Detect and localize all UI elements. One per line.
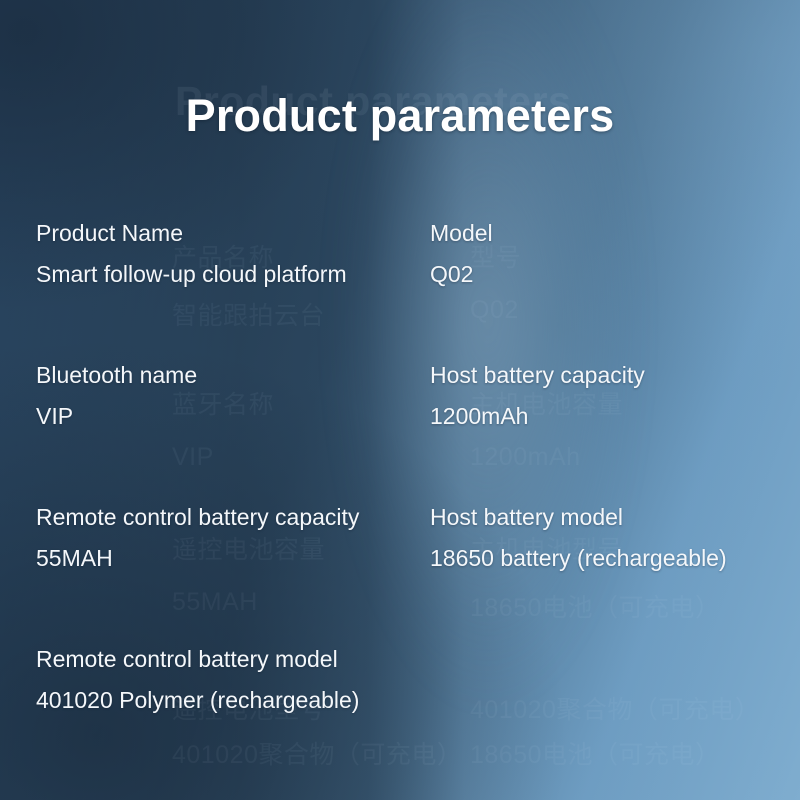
spec-label: Model bbox=[430, 213, 780, 254]
spec-row: Product Name Smart follow-up cloud platf… bbox=[36, 213, 780, 295]
spec-label: Host battery model bbox=[430, 497, 780, 538]
page-title: Product parameters bbox=[0, 90, 800, 142]
spec-cell-bluetooth-name: Bluetooth name VIP bbox=[36, 355, 430, 437]
specifications-grid: Product Name Smart follow-up cloud platf… bbox=[36, 213, 780, 721]
spec-row: Remote control battery capacity 55MAH Ho… bbox=[36, 497, 780, 579]
spec-value: VIP bbox=[36, 396, 430, 437]
spec-value: Q02 bbox=[430, 254, 780, 295]
spec-cell-remote-battery-capacity: Remote control battery capacity 55MAH bbox=[36, 497, 430, 579]
spec-label: Host battery capacity bbox=[430, 355, 780, 396]
spec-cell-host-battery-capacity: Host battery capacity 1200mAh bbox=[430, 355, 780, 437]
spec-cell-product-name: Product Name Smart follow-up cloud platf… bbox=[36, 213, 430, 295]
content-layer: Product parameters Product Name Smart fo… bbox=[0, 0, 800, 800]
spec-value: 55MAH bbox=[36, 538, 430, 579]
spec-row: Remote control battery model 401020 Poly… bbox=[36, 639, 780, 721]
spec-label: Remote control battery model bbox=[36, 639, 430, 680]
spec-value: 401020 Polymer (rechargeable) bbox=[36, 680, 430, 721]
spec-row: Bluetooth name VIP Host battery capacity… bbox=[36, 355, 780, 437]
spec-label: Remote control battery capacity bbox=[36, 497, 430, 538]
spec-value: 1200mAh bbox=[430, 396, 780, 437]
spec-value: Smart follow-up cloud platform bbox=[36, 254, 430, 295]
spec-cell-remote-battery-model: Remote control battery model 401020 Poly… bbox=[36, 639, 430, 721]
spec-cell-host-battery-model: Host battery model 18650 battery (rechar… bbox=[430, 497, 780, 579]
spec-cell-empty bbox=[430, 639, 780, 721]
spec-label: Bluetooth name bbox=[36, 355, 430, 396]
spec-value: 18650 battery (rechargeable) bbox=[430, 538, 780, 579]
spec-label: Product Name bbox=[36, 213, 430, 254]
product-parameters-page: Product parameters 产品名称 型号 智能跟拍云台 Q02 蓝牙… bbox=[0, 0, 800, 800]
spec-cell-model: Model Q02 bbox=[430, 213, 780, 295]
